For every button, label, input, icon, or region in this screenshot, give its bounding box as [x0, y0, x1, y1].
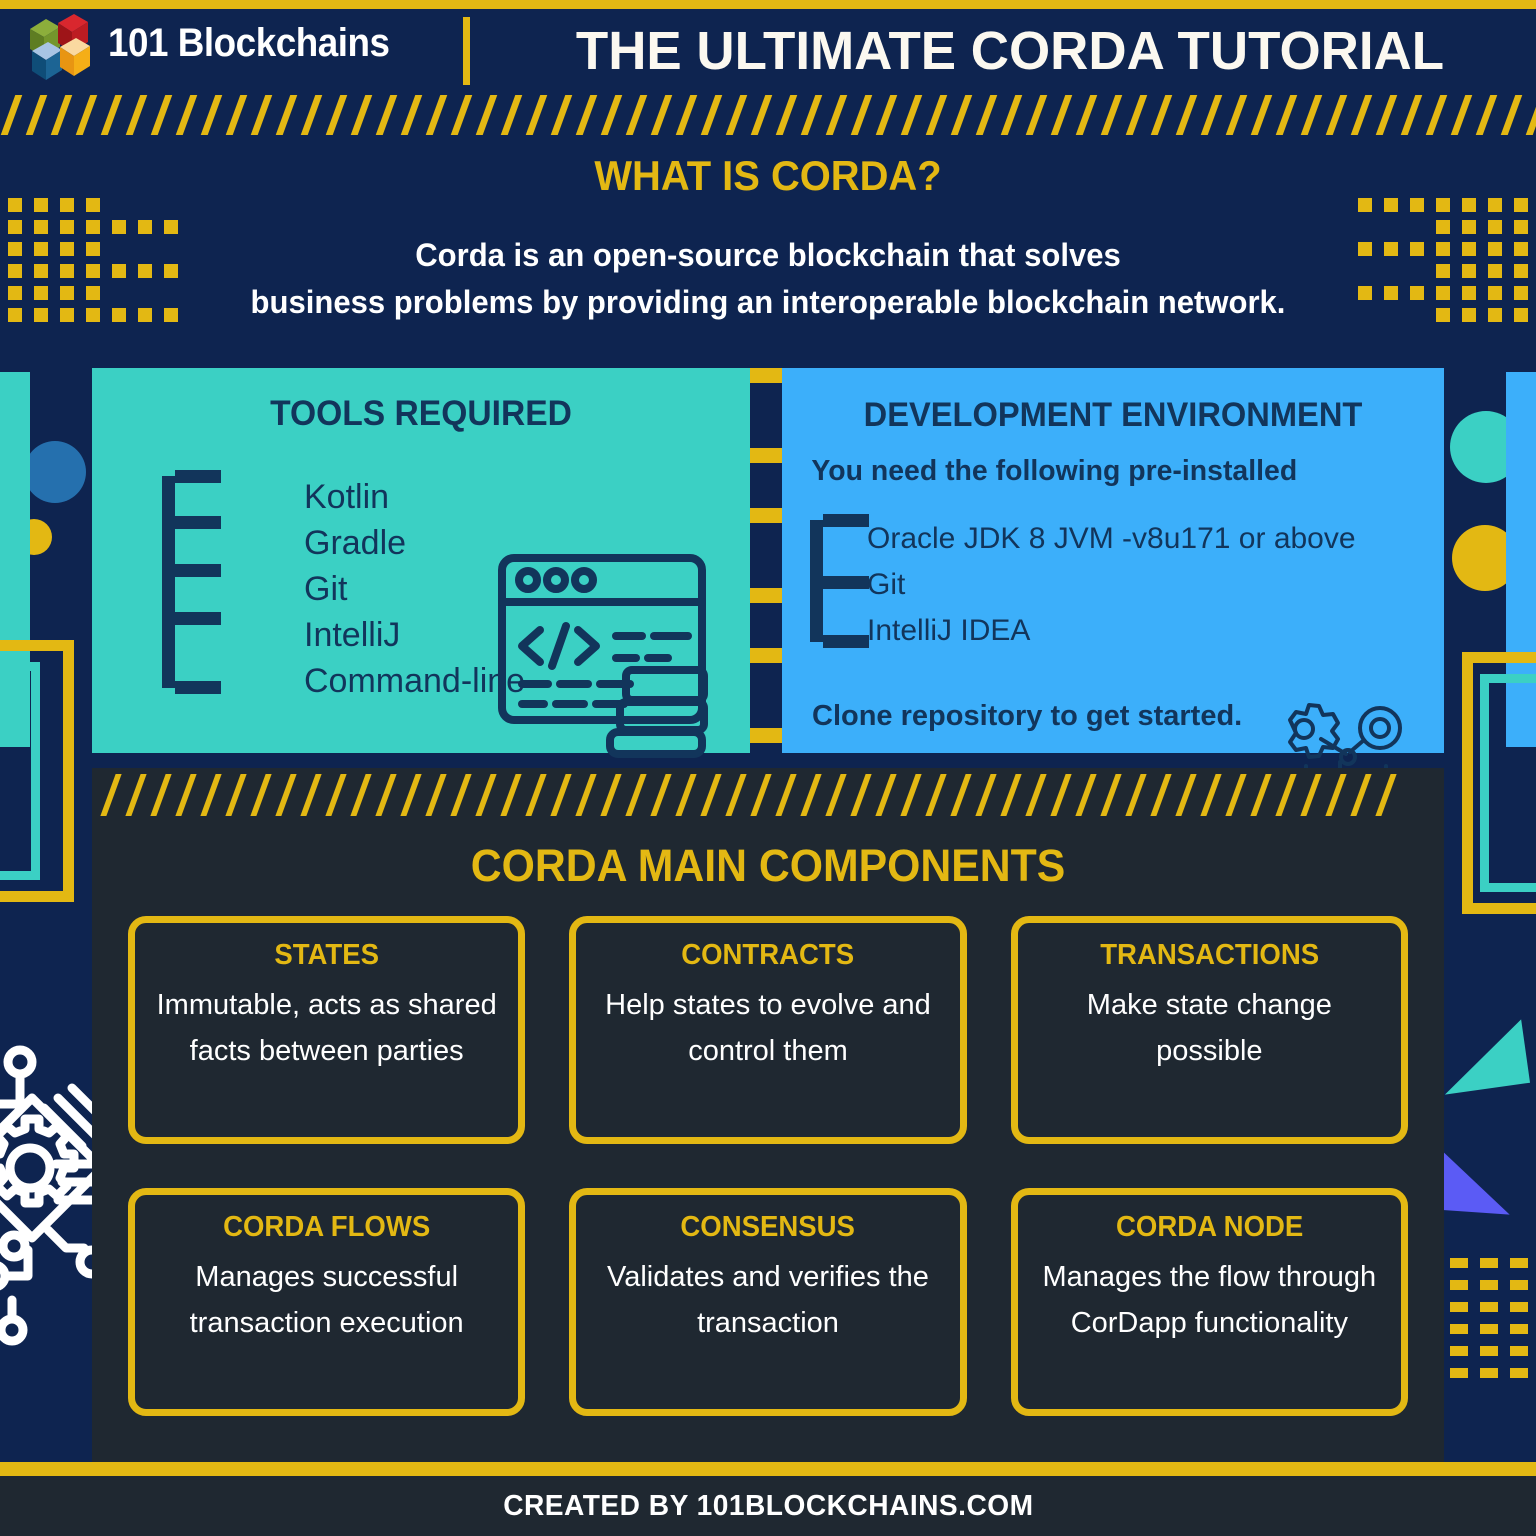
dot	[1450, 1280, 1468, 1290]
stripe	[1273, 774, 1299, 816]
stripe	[1073, 774, 1099, 816]
stripe	[973, 774, 999, 816]
stripe	[249, 95, 275, 135]
stripe	[1224, 95, 1250, 135]
footer-accent-rule	[0, 1462, 1536, 1476]
card-title: CORDA NODE	[1039, 1211, 1380, 1244]
dev-item: Oracle JDK 8 JVM -v8u171 or above	[867, 516, 1356, 562]
stripe	[1149, 95, 1175, 135]
dot	[1514, 198, 1528, 212]
stripe	[1324, 95, 1350, 135]
stripe	[298, 774, 324, 816]
section-title-components: CORDA MAIN COMPONENTS	[126, 840, 1410, 892]
stripe	[398, 774, 424, 816]
divider-dash	[750, 448, 782, 463]
stripe	[349, 95, 375, 135]
divider-dash	[750, 668, 782, 683]
tools-required-panel: TOOLS REQUIRED Kotlin Gradle Git Intelli…	[92, 368, 750, 753]
stripe	[323, 774, 349, 816]
dot	[112, 264, 126, 278]
dot	[8, 308, 22, 322]
dot	[60, 264, 74, 278]
dot	[1462, 308, 1476, 322]
stripe	[948, 774, 974, 816]
dot	[86, 242, 100, 256]
intro-line-1: Corda is an open-source blockchain that …	[139, 232, 1396, 279]
stripe	[1299, 95, 1325, 135]
dot	[8, 286, 22, 300]
divider-dash	[750, 488, 782, 503]
stripe	[449, 95, 475, 135]
stripe	[49, 95, 75, 135]
stripe	[649, 95, 675, 135]
stripe	[974, 95, 1000, 135]
stripe	[174, 95, 200, 135]
divider-dash	[750, 368, 782, 383]
dot	[138, 220, 152, 234]
stripe	[224, 95, 250, 135]
dev-item: IntelliJ IDEA	[867, 608, 1356, 654]
divider-dash	[750, 728, 782, 743]
dot	[1410, 198, 1424, 212]
stripe	[474, 95, 500, 135]
dot	[1462, 286, 1476, 300]
card-text: Validates and verifies the transaction	[588, 1254, 947, 1346]
dot	[34, 286, 48, 300]
dot	[1358, 242, 1372, 256]
dot	[1450, 1258, 1468, 1268]
dot	[1514, 286, 1528, 300]
stripe	[374, 95, 400, 135]
stripe	[1199, 95, 1225, 135]
stripe	[273, 774, 299, 816]
stripe	[898, 774, 924, 816]
card-text: Manages the flow through CorDapp functio…	[1030, 1254, 1389, 1346]
card-text: Manages successful transaction execution	[147, 1254, 506, 1346]
divider-dash	[750, 408, 782, 423]
stripe	[873, 774, 899, 816]
stripe	[74, 95, 100, 135]
dot	[1488, 242, 1502, 256]
stripe	[1049, 95, 1075, 135]
dot	[1450, 1324, 1468, 1334]
card-title: CORDA FLOWS	[156, 1211, 497, 1244]
dot	[1514, 308, 1528, 322]
stripe	[523, 774, 549, 816]
stripe	[1274, 95, 1300, 135]
dot	[34, 264, 48, 278]
dot	[1450, 1302, 1468, 1312]
dot	[1488, 286, 1502, 300]
triangle-icon	[1436, 1019, 1530, 1094]
corda-main-components-section: CORDA MAIN COMPONENTS STATES Immutable, …	[92, 768, 1444, 1468]
stripe	[1399, 95, 1425, 135]
stripe	[749, 95, 775, 135]
dot	[1436, 286, 1450, 300]
stripe	[149, 95, 175, 135]
stripe	[499, 95, 525, 135]
dot	[1436, 220, 1450, 234]
component-card[interactable]: CORDA FLOWS Manages successful transacti…	[128, 1188, 525, 1416]
divider-dash	[750, 568, 782, 583]
stripe	[1349, 95, 1375, 135]
card-title: CONSENSUS	[597, 1211, 938, 1244]
divider-dash	[750, 528, 782, 543]
divider-dash	[750, 608, 782, 623]
dot-row	[8, 242, 190, 264]
top-accent-rule	[0, 0, 1536, 9]
dot	[86, 220, 100, 234]
stripe	[198, 774, 224, 816]
tools-bracket	[162, 476, 175, 688]
stripe	[473, 774, 499, 816]
divider-dash	[750, 428, 782, 443]
dot	[1462, 264, 1476, 278]
dot	[1510, 1368, 1528, 1378]
stripe	[799, 95, 825, 135]
header-divider	[463, 17, 470, 85]
stripe	[1249, 95, 1275, 135]
dev-panel-subtitle: You need the following pre-installed	[782, 435, 1431, 488]
dot	[60, 242, 74, 256]
stripe	[1024, 95, 1050, 135]
intro-line-2: business problems by providing an intero…	[139, 279, 1396, 326]
dot	[164, 220, 178, 234]
stripe	[1499, 95, 1525, 135]
card-text: Make state change possible	[1030, 982, 1389, 1074]
stripe	[573, 774, 599, 816]
dot	[8, 264, 22, 278]
dot	[8, 220, 22, 234]
card-text: Immutable, acts as shared facts between …	[147, 982, 506, 1074]
stripe	[1174, 95, 1200, 135]
stripe	[223, 774, 249, 816]
dot	[164, 308, 178, 322]
component-card[interactable]: CONTRACTS Help states to evolve and cont…	[569, 916, 966, 1144]
divider-dash	[750, 388, 782, 403]
divider-dash	[750, 508, 782, 523]
dot	[86, 264, 100, 278]
brand-name: 101 Blockchains	[108, 21, 390, 66]
triangle-icon	[1432, 1145, 1514, 1214]
stripe	[1323, 774, 1349, 816]
dot	[164, 264, 178, 278]
divider-dash	[750, 688, 782, 703]
stripe	[599, 95, 625, 135]
dot	[1514, 242, 1528, 256]
component-card[interactable]: STATES Immutable, acts as shared facts b…	[128, 916, 525, 1144]
stripe	[1099, 95, 1125, 135]
dev-item: Git	[867, 562, 1356, 608]
dot	[60, 308, 74, 322]
dot	[1436, 264, 1450, 278]
panel-divider-dashes	[750, 368, 782, 753]
dot	[1436, 308, 1450, 322]
stripe	[448, 774, 474, 816]
divider-dash	[750, 588, 782, 603]
stripe	[99, 95, 125, 135]
circuit-gear-icon	[0, 1018, 100, 1353]
stripe	[1124, 95, 1150, 135]
stripe	[998, 774, 1024, 816]
stripe	[1098, 774, 1124, 816]
stripe	[124, 95, 150, 135]
stripe	[924, 95, 950, 135]
dot	[1384, 198, 1398, 212]
infographic-canvas: 101 Blockchains THE ULTIMATE CORDA TUTOR…	[0, 0, 1536, 1536]
stripe	[574, 95, 600, 135]
dot	[60, 198, 74, 212]
dot	[1480, 1324, 1498, 1334]
dot	[1462, 242, 1476, 256]
stripe	[949, 95, 975, 135]
stripe	[0, 95, 24, 135]
dot	[112, 220, 126, 234]
stripe	[24, 95, 50, 135]
dot	[34, 220, 48, 234]
dot-row	[1346, 264, 1528, 286]
dot	[1510, 1302, 1528, 1312]
stripe	[173, 774, 199, 816]
dot	[34, 242, 48, 256]
stripe	[1248, 774, 1274, 816]
cube-logo-icon	[22, 11, 94, 85]
footer-bar: CREATED BY 101BLOCKCHAINS.COM	[0, 1476, 1536, 1536]
dot	[60, 286, 74, 300]
dot	[1436, 198, 1450, 212]
component-card[interactable]: CORDA NODE Manages the flow through CorD…	[1011, 1188, 1408, 1416]
stripe	[524, 95, 550, 135]
dot	[1480, 1302, 1498, 1312]
card-title: STATES	[156, 939, 497, 972]
header-stripe-band	[0, 95, 1536, 135]
decor-frame-teal-right	[1480, 674, 1536, 892]
dot	[1480, 1368, 1498, 1378]
dot	[138, 308, 152, 322]
tools-item: Kotlin	[304, 474, 525, 520]
stripe	[724, 95, 750, 135]
stripe	[1198, 774, 1224, 816]
stripe	[1048, 774, 1074, 816]
dot	[1510, 1324, 1528, 1334]
stripe	[199, 95, 225, 135]
stripe	[399, 95, 425, 135]
dot-grid-right	[1346, 198, 1528, 330]
stripe	[674, 95, 700, 135]
header-bar: 101 Blockchains THE ULTIMATE CORDA TUTOR…	[0, 9, 1536, 91]
dot	[1488, 308, 1502, 322]
stripe	[1373, 774, 1399, 816]
stripe	[1524, 95, 1536, 135]
stripe	[774, 95, 800, 135]
stripe	[498, 774, 524, 816]
dot	[1436, 242, 1450, 256]
footer-credit: CREATED BY 101BLOCKCHAINS.COM	[503, 1490, 1033, 1523]
divider-dash	[750, 548, 782, 563]
dot	[1480, 1346, 1498, 1356]
stripe	[423, 774, 449, 816]
dot	[1488, 220, 1502, 234]
tools-panel-title: TOOLS REQUIRED	[105, 368, 737, 434]
stripe	[1298, 774, 1324, 816]
stripe	[698, 774, 724, 816]
stripe	[424, 95, 450, 135]
stripe	[823, 774, 849, 816]
dot-row	[8, 286, 190, 308]
card-text: Help states to evolve and control them	[588, 982, 947, 1074]
dot-row	[1346, 198, 1528, 220]
dot	[1510, 1280, 1528, 1290]
stripe	[1449, 95, 1475, 135]
divider-dash	[750, 748, 782, 753]
stripe	[98, 774, 124, 816]
stripe	[548, 774, 574, 816]
stripe	[648, 774, 674, 816]
stripe	[1424, 95, 1450, 135]
stripe	[798, 774, 824, 816]
dev-list: Oracle JDK 8 JVM -v8u171 or above Git In…	[867, 516, 1356, 654]
decor-circle-blue	[24, 441, 86, 503]
stripe	[624, 95, 650, 135]
stripe	[773, 774, 799, 816]
stripe	[748, 774, 774, 816]
intro-text: Corda is an open-source blockchain that …	[139, 232, 1396, 326]
stripe	[274, 95, 300, 135]
component-card-grid: STATES Immutable, acts as shared facts b…	[128, 916, 1408, 1416]
code-monitor-icon	[492, 552, 722, 767]
stripe	[123, 774, 149, 816]
stripe	[348, 774, 374, 816]
dot	[1410, 242, 1424, 256]
stripe	[1123, 774, 1149, 816]
dot	[8, 242, 22, 256]
divider-dash	[750, 628, 782, 643]
dot	[112, 308, 126, 322]
dot	[1510, 1258, 1528, 1268]
dot	[86, 198, 100, 212]
dot	[1384, 286, 1398, 300]
dot	[1462, 220, 1476, 234]
dot	[138, 264, 152, 278]
dot-row	[8, 198, 190, 220]
stripe	[848, 774, 874, 816]
stripe	[1223, 774, 1249, 816]
stripe	[824, 95, 850, 135]
dot-row	[1346, 308, 1528, 330]
dot	[1514, 264, 1528, 278]
dot	[1450, 1346, 1468, 1356]
dot-row	[1346, 242, 1528, 264]
stripe	[923, 774, 949, 816]
divider-dash	[750, 648, 782, 663]
dot	[1514, 220, 1528, 234]
dot	[8, 198, 22, 212]
card-title: CONTRACTS	[597, 939, 938, 972]
components-stripe-band	[92, 774, 1444, 816]
divider-dash	[750, 468, 782, 483]
dot	[1480, 1280, 1498, 1290]
dot	[1462, 198, 1476, 212]
section-title-what-is-corda: WHAT IS CORDA?	[38, 152, 1497, 200]
card-title: TRANSACTIONS	[1039, 939, 1380, 972]
stripe	[1374, 95, 1400, 135]
dot	[1410, 286, 1424, 300]
stripe	[699, 95, 725, 135]
dot	[86, 286, 100, 300]
stripe	[673, 774, 699, 816]
stripe	[1173, 774, 1199, 816]
dot	[1510, 1346, 1528, 1356]
dev-bracket	[810, 520, 823, 642]
stripe	[623, 774, 649, 816]
stripe	[1023, 774, 1049, 816]
dot	[1488, 198, 1502, 212]
divider-dash	[750, 708, 782, 723]
stripe	[874, 95, 900, 135]
dot-row	[8, 308, 190, 330]
dot	[1358, 286, 1372, 300]
stripe	[598, 774, 624, 816]
dot	[1384, 242, 1398, 256]
dot-grid-left	[8, 198, 190, 330]
dot	[34, 308, 48, 322]
stripe	[299, 95, 325, 135]
dot-row	[8, 220, 190, 242]
component-card[interactable]: TRANSACTIONS Make state change possible	[1011, 916, 1408, 1144]
stripe	[549, 95, 575, 135]
stripe	[248, 774, 274, 816]
development-environment-panel: DEVELOPMENT ENVIRONMENT You need the fol…	[782, 368, 1444, 753]
dot	[86, 308, 100, 322]
dev-panel-footer: Clone repository to get started.	[812, 700, 1242, 733]
stripe	[899, 95, 925, 135]
stripe	[1148, 774, 1174, 816]
dot-row	[1346, 220, 1528, 242]
dot-row	[1346, 286, 1528, 308]
stripe	[849, 95, 875, 135]
stripe	[324, 95, 350, 135]
page-title: THE ULTIMATE CORDA TUTORIAL	[510, 15, 1510, 87]
dot	[1488, 264, 1502, 278]
stripe	[1348, 774, 1374, 816]
dot	[60, 220, 74, 234]
stripe	[1474, 95, 1500, 135]
dot-row	[8, 264, 190, 286]
dev-panel-title: DEVELOPMENT ENVIRONMENT	[795, 368, 1431, 435]
decor-frame-teal-left	[0, 662, 40, 880]
stripe	[999, 95, 1025, 135]
stripe	[1074, 95, 1100, 135]
dot	[34, 198, 48, 212]
stripe	[723, 774, 749, 816]
component-card[interactable]: CONSENSUS Validates and verifies the tra…	[569, 1188, 966, 1416]
dot	[1358, 198, 1372, 212]
dot	[1480, 1258, 1498, 1268]
stripe	[373, 774, 399, 816]
dot	[1450, 1368, 1468, 1378]
stripe	[148, 774, 174, 816]
